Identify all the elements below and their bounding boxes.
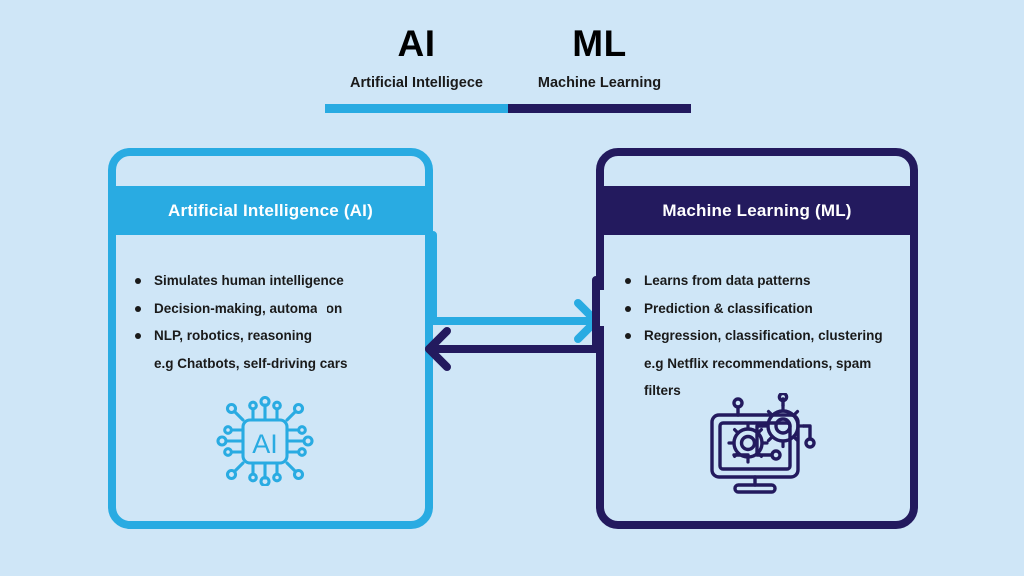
card-ai-border-gap xyxy=(317,292,327,330)
list-item: Decision-making, automation xyxy=(130,295,400,323)
header-full-ai: Artificial Intelligece xyxy=(325,73,508,93)
header-column-ai: AI Artificial Intelligece xyxy=(325,22,508,93)
chip-icon-label: AI xyxy=(252,429,278,459)
header-divider-rule xyxy=(325,104,691,113)
list-item: e.g Chatbots, self-driving cars xyxy=(130,350,400,378)
card-ml-border-gap xyxy=(596,290,606,326)
list-item: Regression, classification, clustering xyxy=(620,322,905,350)
header-full-ml: Machine Learning xyxy=(508,73,691,93)
card-ai-title: Artificial Intelligence (AI) xyxy=(168,201,373,221)
header-rule-segment-ml xyxy=(508,104,691,113)
page-header: AI Artificial Intelligece ML Machine Lea… xyxy=(325,22,691,114)
card-ml-header-bar: Machine Learning (ML) xyxy=(604,186,910,235)
card-ml-bullet-list: Learns from data patterns Prediction & c… xyxy=(620,267,905,405)
list-item: Simulates human intelligence xyxy=(130,267,400,295)
monitor-gears-ml-icon xyxy=(704,393,822,495)
card-ai-bullet-list: Simulates human intelligence Decision-ma… xyxy=(130,267,400,377)
cpu-chip-ai-icon: AI xyxy=(213,396,317,486)
header-rule-segment-ai xyxy=(325,104,508,113)
list-item: e.g Netflix recommendations, spam xyxy=(620,350,905,378)
list-item: Learns from data patterns xyxy=(620,267,905,295)
card-ai-header-bar: Artificial Intelligence (AI) xyxy=(116,186,425,235)
header-abbr-ml: ML xyxy=(508,22,691,66)
list-item: NLP, robotics, reasoning xyxy=(130,322,400,350)
header-column-ml: ML Machine Learning xyxy=(508,22,691,93)
list-item: Prediction & classification xyxy=(620,295,905,323)
header-abbr-ai: AI xyxy=(325,22,508,66)
card-ml-title: Machine Learning (ML) xyxy=(662,201,851,221)
